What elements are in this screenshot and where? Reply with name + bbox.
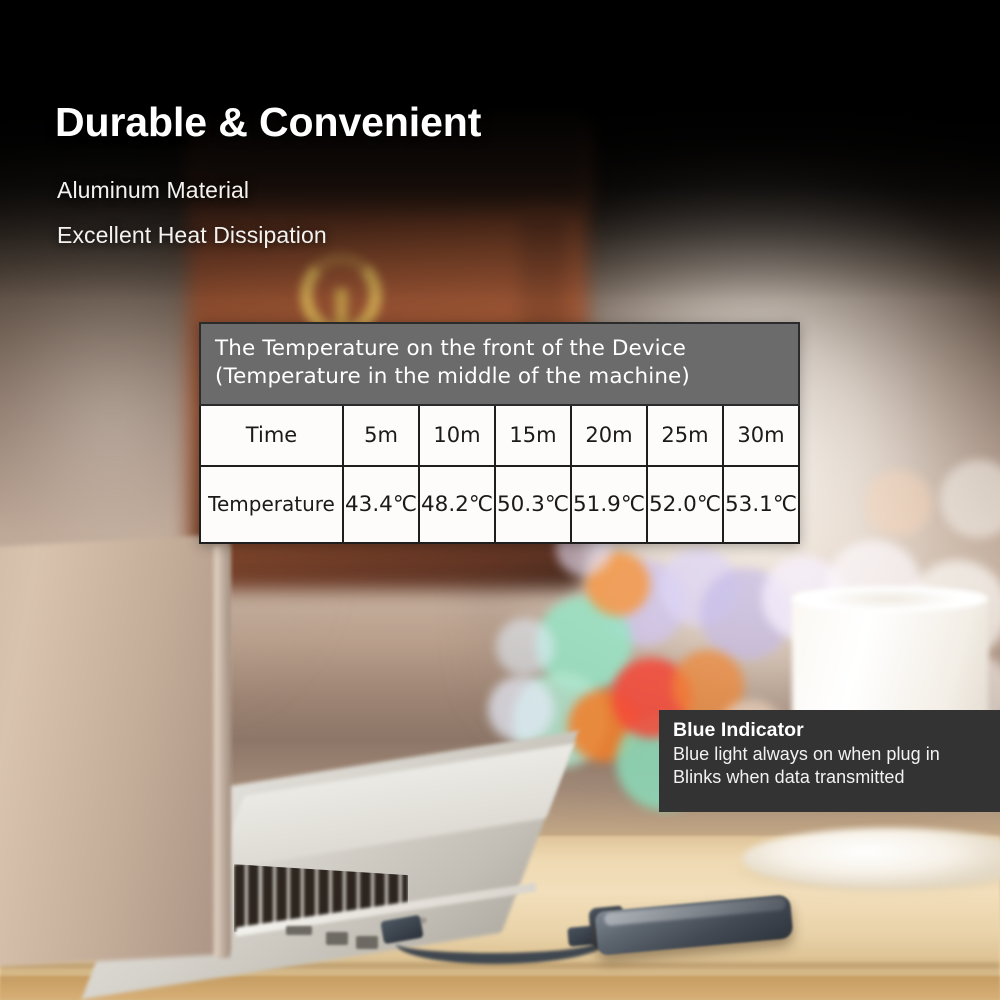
page-title: Durable & Convenient bbox=[55, 100, 481, 145]
top-vignette bbox=[0, 0, 1000, 300]
bokeh-light bbox=[496, 618, 554, 676]
row-header-time: Time bbox=[200, 405, 343, 466]
table-title-row: The Temperature on the front of the Devi… bbox=[200, 323, 799, 405]
laptop-usb-port bbox=[286, 926, 312, 935]
row-header-temperature: Temperature bbox=[200, 466, 343, 543]
table-title-line-2: (Temperature in the middle of the machin… bbox=[215, 363, 784, 391]
temperature-cell-1: 43.4℃ bbox=[343, 466, 419, 543]
laptop-usb-port bbox=[326, 932, 348, 945]
time-cell-1: 5m bbox=[343, 405, 419, 466]
subtitle-line-2: Excellent Heat Dissipation bbox=[57, 222, 327, 249]
callout-line-2: Blinks when data transmitted bbox=[673, 766, 1000, 789]
table-title-line-1: The Temperature on the front of the Devi… bbox=[215, 335, 784, 363]
subtitle-line-1: Aluminum Material bbox=[57, 177, 249, 204]
bokeh-light bbox=[488, 676, 554, 742]
bokeh-light bbox=[866, 470, 932, 536]
table-row: Temperature 43.4℃ 48.2℃ 50.3℃ 51.9℃ 52.0… bbox=[200, 466, 799, 543]
time-cell-3: 15m bbox=[495, 405, 571, 466]
callout-title: Blue Indicator bbox=[673, 719, 1000, 743]
laptop-usb-port bbox=[356, 936, 378, 949]
laptop-screen-back bbox=[0, 534, 230, 976]
table-title-cell: The Temperature on the front of the Devi… bbox=[200, 323, 799, 405]
time-cell-4: 20m bbox=[571, 405, 647, 466]
blue-indicator-callout: Blue Indicator Blue light always on when… bbox=[659, 710, 1000, 812]
temperature-cell-6: 53.1℃ bbox=[723, 466, 799, 543]
laptop-screen-edge bbox=[214, 546, 230, 959]
table-row: Time 5m 10m 15m 20m 25m 30m bbox=[200, 405, 799, 466]
temperature-cell-2: 48.2℃ bbox=[419, 466, 495, 543]
product-feature-slide: Durable & Convenient Aluminum Material E… bbox=[0, 0, 1000, 1000]
temperature-cell-5: 52.0℃ bbox=[647, 466, 723, 543]
time-cell-6: 30m bbox=[723, 405, 799, 466]
temperature-cell-4: 51.9℃ bbox=[571, 466, 647, 543]
coffee-mug-rim bbox=[792, 586, 988, 612]
time-cell-5: 25m bbox=[647, 405, 723, 466]
temperature-table: The Temperature on the front of the Devi… bbox=[199, 322, 800, 544]
callout-line-1: Blue light always on when plug in bbox=[673, 743, 1000, 766]
time-cell-2: 10m bbox=[419, 405, 495, 466]
temperature-cell-3: 50.3℃ bbox=[495, 466, 571, 543]
